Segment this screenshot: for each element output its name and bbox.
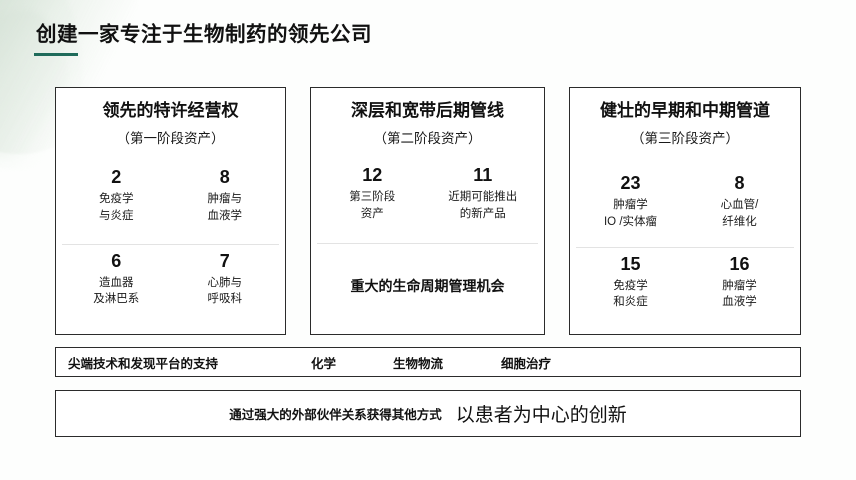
platform-item-chemistry: 化学	[311, 353, 336, 372]
stat-cell: 2 免疫学 与炎症	[62, 161, 171, 244]
stat-cell: 11 近期可能推出 的新产品	[428, 159, 539, 243]
stat-number: 11	[428, 165, 539, 186]
stat-number: 15	[576, 254, 685, 275]
card-subtitle: （第一阶段资产）	[62, 127, 279, 147]
stat-number: 16	[685, 254, 794, 275]
stat-label: 心血管/ 纤维化	[685, 197, 794, 230]
stat-label: 近期可能推出 的新产品	[428, 189, 539, 222]
stat-number: 23	[576, 173, 685, 194]
card-leading-franchises[interactable]: 领先的特许经营权 （第一阶段资产） 2 免疫学 与炎症 8 肿瘤与 血液学 6	[55, 87, 286, 335]
stat-row: 15 免疫学 和炎症 16 肿瘤学 血液学	[576, 247, 794, 328]
stat-label: 肿瘤与 血液学	[171, 191, 280, 224]
stat-grid: 23 肿瘤学 IO /实体瘤 8 心血管/ 纤维化 15 免疫学 和炎症 16	[576, 167, 794, 328]
card-note: 重大的生命周期管理机会	[351, 276, 505, 296]
stat-cell: 16 肿瘤学 血液学	[685, 248, 794, 328]
stat-label: 肿瘤学 血液学	[685, 278, 794, 311]
card-row: 领先的特许经营权 （第一阶段资产） 2 免疫学 与炎症 8 肿瘤与 血液学 6	[55, 87, 801, 335]
stat-grid: 2 免疫学 与炎症 8 肿瘤与 血液学 6 造血器 及淋巴系 7	[62, 161, 279, 328]
card-note-row: 重大的生命周期管理机会	[317, 243, 538, 328]
card-subtitle: （第二阶段资产）	[317, 127, 538, 147]
bottom-bar-main-text: 以患者为中心的创新	[456, 400, 627, 427]
bottom-bar-lead-text: 通过强大的外部伙伴关系获得其他方式	[229, 404, 442, 423]
stat-row: 23 肿瘤学 IO /实体瘤 8 心血管/ 纤维化	[576, 167, 794, 247]
stat-row: 6 造血器 及淋巴系 7 心肺与 呼吸科	[62, 244, 279, 328]
stat-label: 免疫学 和炎症	[576, 278, 685, 311]
card-subtitle: （第三阶段资产）	[576, 127, 794, 147]
platform-support-bar[interactable]: 尖端技术和发现平台的支持 化学 生物物流 细胞治疗	[55, 347, 801, 377]
platform-item-biologics: 生物物流	[393, 353, 443, 372]
patient-centric-innovation-bar[interactable]: 通过强大的外部伙伴关系获得其他方式 以患者为中心的创新	[55, 390, 801, 437]
stat-cell: 12 第三阶段 资产	[317, 159, 428, 243]
platform-item-cell-therapy: 细胞治疗	[501, 353, 551, 372]
stat-grid: 12 第三阶段 资产 11 近期可能推出 的新产品 重大的生命周期管理机会	[317, 159, 538, 328]
stat-cell: 6 造血器 及淋巴系	[62, 245, 171, 328]
card-late-stage-pipeline[interactable]: 深层和宽带后期管线 （第二阶段资产） 12 第三阶段 资产 11 近期可能推出 …	[310, 87, 545, 335]
stat-number: 12	[317, 165, 428, 186]
card-early-mid-stage-pipeline[interactable]: 健壮的早期和中期管道 （第三阶段资产） 23 肿瘤学 IO /实体瘤 8 心血管…	[569, 87, 801, 335]
stat-cell: 8 心血管/ 纤维化	[685, 167, 794, 247]
stat-number: 7	[171, 251, 280, 272]
slide-canvas: 创建一家专注于生物制药的领先公司 领先的特许经营权 （第一阶段资产） 2 免疫学…	[0, 0, 856, 480]
stat-cell: 15 免疫学 和炎症	[576, 248, 685, 328]
stat-label: 肿瘤学 IO /实体瘤	[576, 197, 685, 230]
stat-cell: 23 肿瘤学 IO /实体瘤	[576, 167, 685, 247]
stat-number: 8	[685, 173, 794, 194]
title-underline-accent	[34, 53, 78, 56]
stat-label: 免疫学 与炎症	[62, 191, 171, 224]
stat-cell: 8 肿瘤与 血液学	[171, 161, 280, 244]
slide-title: 创建一家专注于生物制药的领先公司	[36, 17, 372, 47]
stat-number: 2	[62, 167, 171, 188]
stat-row: 2 免疫学 与炎症 8 肿瘤与 血液学	[62, 161, 279, 244]
card-title: 健壮的早期和中期管道	[576, 100, 794, 121]
card-title: 领先的特许经营权	[62, 100, 279, 121]
platform-item-technology: 尖端技术和发现平台的支持	[68, 353, 218, 372]
stat-row: 12 第三阶段 资产 11 近期可能推出 的新产品	[317, 159, 538, 243]
stat-label: 造血器 及淋巴系	[62, 275, 171, 308]
stat-number: 8	[171, 167, 280, 188]
stat-label: 心肺与 呼吸科	[171, 275, 280, 308]
card-title: 深层和宽带后期管线	[317, 100, 538, 121]
stat-label: 第三阶段 资产	[317, 189, 428, 222]
stat-cell: 7 心肺与 呼吸科	[171, 245, 280, 328]
stat-number: 6	[62, 251, 171, 272]
